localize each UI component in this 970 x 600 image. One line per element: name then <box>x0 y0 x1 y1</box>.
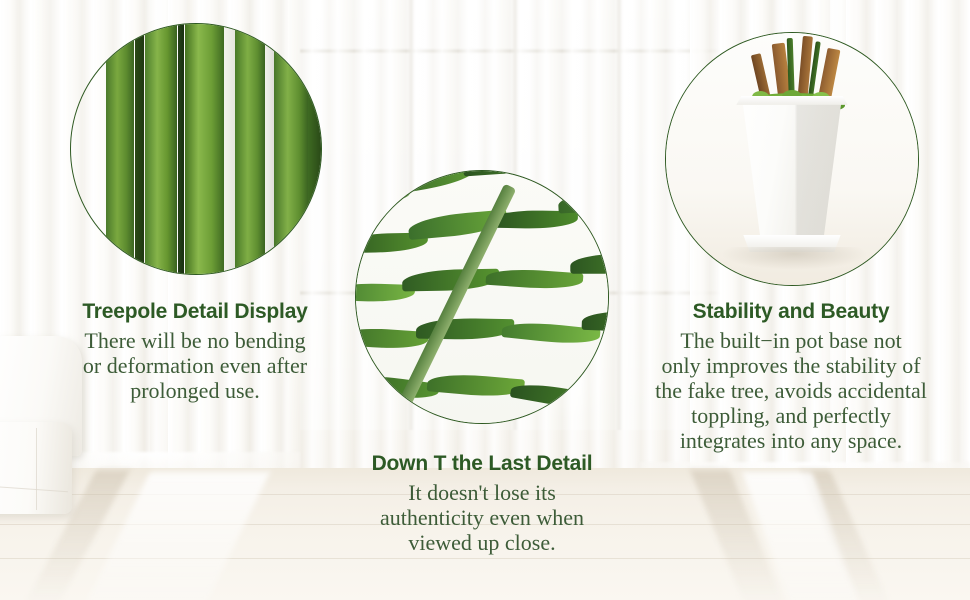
body-last-detail-line-3: viewed up close. <box>312 530 652 555</box>
body-stability-line-1: The built−in pot base not <box>612 328 970 353</box>
body-stability-line-2: only improves the stability of <box>612 353 970 378</box>
body-last-detail-line-1: It doesn't lose its <box>312 480 652 505</box>
body-last-detail-line-2: authenticity even when <box>312 505 652 530</box>
body-stability-line-4: toppling, and perfectly <box>612 403 970 428</box>
callout-photo-treepole <box>70 23 322 275</box>
body-stability-line-5: integrates into any space. <box>612 428 970 453</box>
heading-stability: Stability and Beauty <box>612 300 970 324</box>
heading-last-detail: Down T the Last Detail <box>312 452 652 476</box>
callout-text-last-detail: Down T the Last Detail It doesn't lose i… <box>312 452 652 555</box>
callout-photo-palm-fronds <box>355 170 609 424</box>
callout-photo-white-pot <box>665 32 919 286</box>
body-stability-line-3: the fake tree, avoids accidental <box>612 378 970 403</box>
callout-text-stability: Stability and Beauty The built−in pot ba… <box>612 300 970 453</box>
callout-text-treepole: Treepole Detail Display There will be no… <box>25 300 365 403</box>
product-feature-banner: Treepole Detail Display There will be no… <box>0 0 970 600</box>
body-treepole-line-1: There will be no bending <box>25 328 365 353</box>
heading-treepole: Treepole Detail Display <box>25 300 365 324</box>
body-treepole-line-2: or deformation even after <box>25 353 365 378</box>
body-treepole-line-3: prolonged use. <box>25 378 365 403</box>
